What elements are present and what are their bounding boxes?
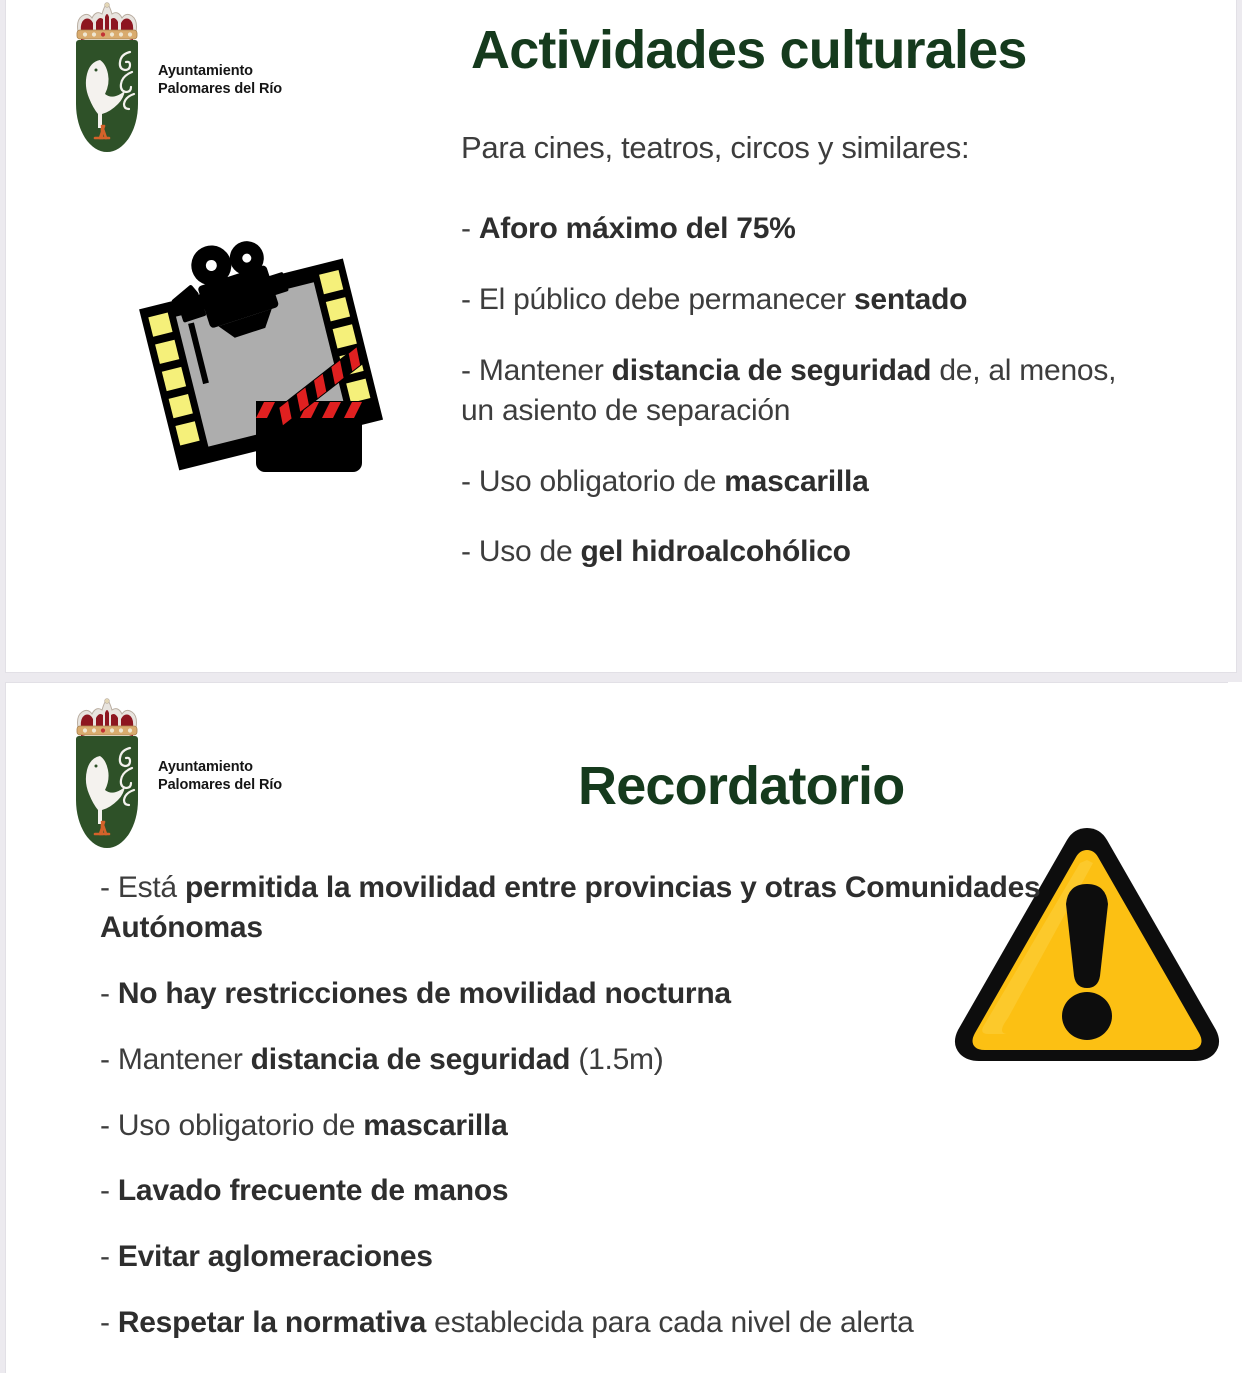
bullet-item: - Uso de gel hidroalcohólico (461, 532, 1151, 572)
bullet-dash: - (461, 283, 479, 316)
bullet-dash: - (461, 354, 479, 387)
coat-of-arms-icon (66, 2, 148, 154)
bullet-item: - Mantener distancia de seguridad de, al… (461, 351, 1151, 431)
bullet-dash: - (100, 871, 118, 904)
bullet-item: - Lavado frecuente de manos (100, 1171, 1160, 1211)
bullet-emphasis: mascarilla (363, 1109, 507, 1142)
bullet-emphasis: gel hidroalcohólico (580, 535, 850, 568)
ayuntamiento-logo-2: Ayuntamiento Palomares del Río (66, 698, 282, 850)
bullet-emphasis: Aforo máximo del 75% (479, 212, 796, 245)
subtitle-cultural: Para cines, teatros, circos y similares: (461, 130, 969, 166)
bullet-dash: - (100, 1240, 118, 1273)
bullet-emphasis: distancia de seguridad (251, 1043, 571, 1076)
bullet-text: Uso de (479, 535, 581, 568)
logo-text: Ayuntamiento Palomares del Río (158, 57, 282, 98)
logo-line-2-b: Palomares del Río (158, 777, 282, 795)
bullet-emphasis: distancia de seguridad (612, 354, 932, 387)
logo-line-1: Ayuntamiento (158, 63, 282, 81)
bullet-item: - Respetar la normativa establecida para… (100, 1303, 1160, 1343)
ayuntamiento-logo: Ayuntamiento Palomares del Río (66, 2, 282, 154)
royal-crown-icon-2 (72, 698, 142, 740)
coat-of-arms-icon-2 (66, 698, 148, 850)
page-title-cultural: Actividades culturales (471, 19, 1027, 81)
bullet-text: Uso obligatorio de (118, 1109, 363, 1142)
bullet-item: - Evitar aglomeraciones (100, 1237, 1160, 1277)
logo-line-2: Palomares del Río (158, 81, 282, 99)
bullet-dash: - (461, 212, 479, 245)
bullet-item: - Uso obligatorio de mascarilla (461, 462, 1151, 502)
bullet-dash: - (461, 535, 479, 568)
bullet-item: - El público debe permanecer sentado (461, 280, 1151, 320)
bullet-emphasis: permitida la movilidad entre provincias … (100, 871, 1040, 944)
bullet-list-cultural: - Aforo máximo del 75%- El público debe … (461, 209, 1151, 603)
bullet-emphasis: Lavado frecuente de manos (118, 1174, 509, 1207)
bullet-dash: - (100, 1043, 118, 1076)
bullet-emphasis: sentado (854, 283, 967, 316)
bullet-emphasis: Respetar la normativa (118, 1306, 426, 1339)
bullet-item: - Uso obligatorio de mascarilla (100, 1106, 1160, 1146)
bullet-text: Mantener (479, 354, 612, 387)
bullet-text: El público debe permanecer (479, 283, 854, 316)
shield-icon-2 (76, 736, 138, 848)
bullet-text: Mantener (118, 1043, 251, 1076)
bullet-item: - Mantener distancia de seguridad (1.5m) (100, 1040, 1160, 1080)
bullet-item: - No hay restricciones de movilidad noct… (100, 974, 1160, 1014)
scrollbar-track[interactable] (1228, 682, 1242, 1373)
royal-crown-icon (72, 2, 142, 44)
cinema-film-clapperboard-icon (138, 229, 388, 484)
bullet-dash: - (100, 977, 118, 1010)
bullet-text: Está (118, 871, 185, 904)
shield-icon (76, 40, 138, 152)
bullet-text: establecida para cada nivel de alerta (426, 1306, 914, 1339)
bullet-dash: - (100, 1109, 118, 1142)
scroll-ornament-icon-2 (115, 746, 137, 808)
scroll-ornament-icon (115, 50, 137, 112)
bullet-item: - Aforo máximo del 75% (461, 209, 1151, 249)
bullet-dash: - (100, 1306, 118, 1339)
bullet-text: Uso obligatorio de (479, 465, 724, 498)
bullet-dash: - (461, 465, 479, 498)
bullet-list-recordatorio: - Está permitida la movilidad entre prov… (100, 868, 1160, 1369)
page-title-recordatorio: Recordatorio (578, 755, 904, 817)
bullet-dash: - (100, 1174, 118, 1207)
slide-card-actividades-culturales: Ayuntamiento Palomares del Río Actividad… (5, 0, 1237, 673)
logo-text-2: Ayuntamiento Palomares del Río (158, 753, 282, 794)
bullet-text: (1.5m) (570, 1043, 663, 1076)
bullet-item: - Está permitida la movilidad entre prov… (100, 868, 1160, 948)
bullet-emphasis: No hay restricciones de movilidad noctur… (118, 977, 731, 1010)
document-viewer: Ayuntamiento Palomares del Río Actividad… (0, 0, 1242, 1373)
bullet-emphasis: Evitar aglomeraciones (118, 1240, 433, 1273)
bullet-emphasis: mascarilla (724, 465, 868, 498)
logo-line-1-b: Ayuntamiento (158, 759, 282, 777)
